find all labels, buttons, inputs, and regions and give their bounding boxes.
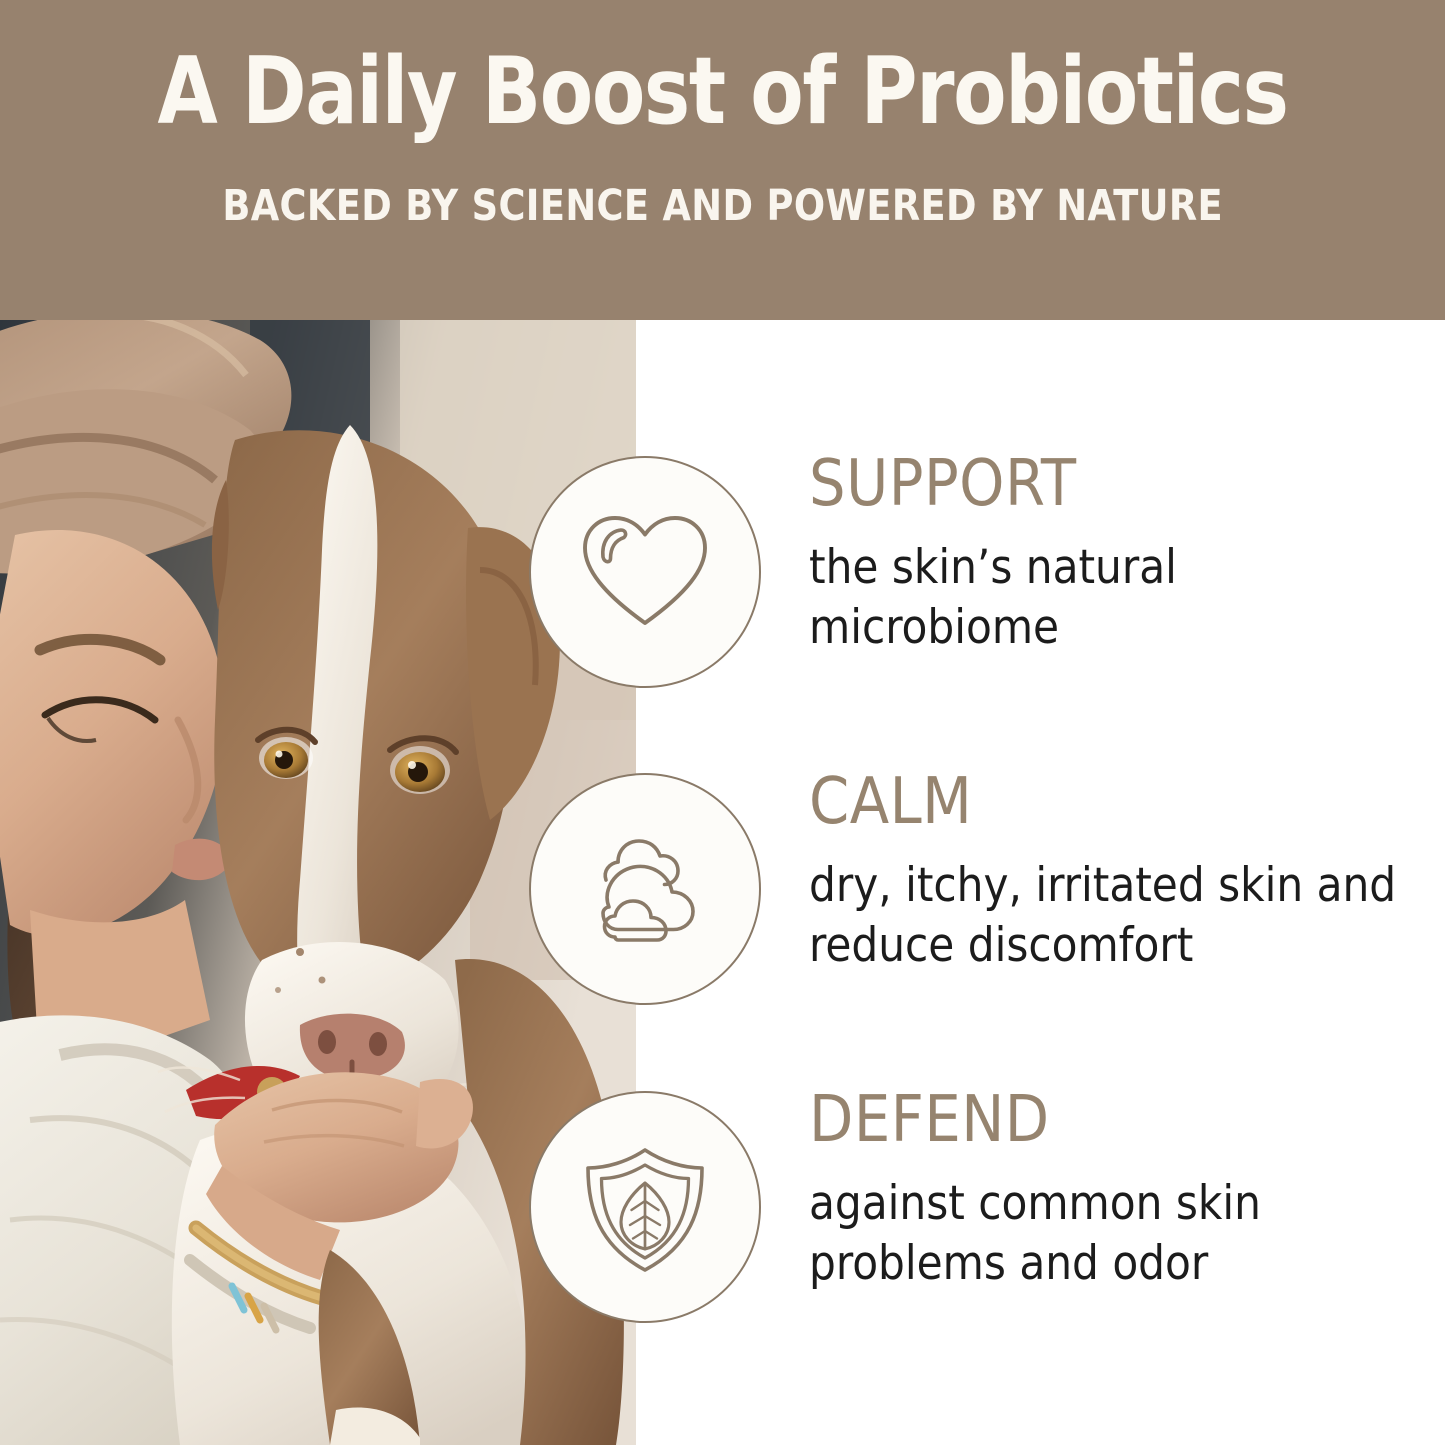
feature-description: dry, itchy, irritated skin and reduce di… [809, 834, 1409, 976]
badge-circle [529, 1091, 761, 1323]
feature-description: the skin’s natural microbiome [809, 516, 1409, 658]
feature-badge-support [529, 456, 761, 688]
feature-text-calm: CALM dry, itchy, irritated skin and redu… [809, 770, 1429, 976]
feature-badge-calm [529, 773, 761, 1005]
clouds-icon [570, 814, 720, 964]
header-band: A Daily Boost of Probiotics BACKED BY SC… [0, 0, 1445, 320]
page-title: A Daily Boost of Probiotics [157, 0, 1287, 139]
feature-title: SUPPORT [809, 452, 1429, 516]
feature-text-support: SUPPORT the skin’s natural microbiome [809, 452, 1429, 658]
feature-description: against common skin problems and odor [809, 1152, 1409, 1294]
badge-circle [529, 773, 761, 1005]
feature-text-defend: DEFEND against common skin problems and … [809, 1088, 1429, 1294]
feature-title: DEFEND [809, 1088, 1429, 1152]
badge-circle [529, 456, 761, 688]
shield-leaf-icon [570, 1132, 720, 1282]
promo-graphic: A Daily Boost of Probiotics BACKED BY SC… [0, 0, 1445, 1445]
heart-icon [570, 497, 720, 647]
feature-badge-defend [529, 1091, 761, 1323]
page-subtitle: BACKED BY SCIENCE AND POWERED BY NATURE [222, 139, 1223, 231]
feature-title: CALM [809, 770, 1429, 834]
